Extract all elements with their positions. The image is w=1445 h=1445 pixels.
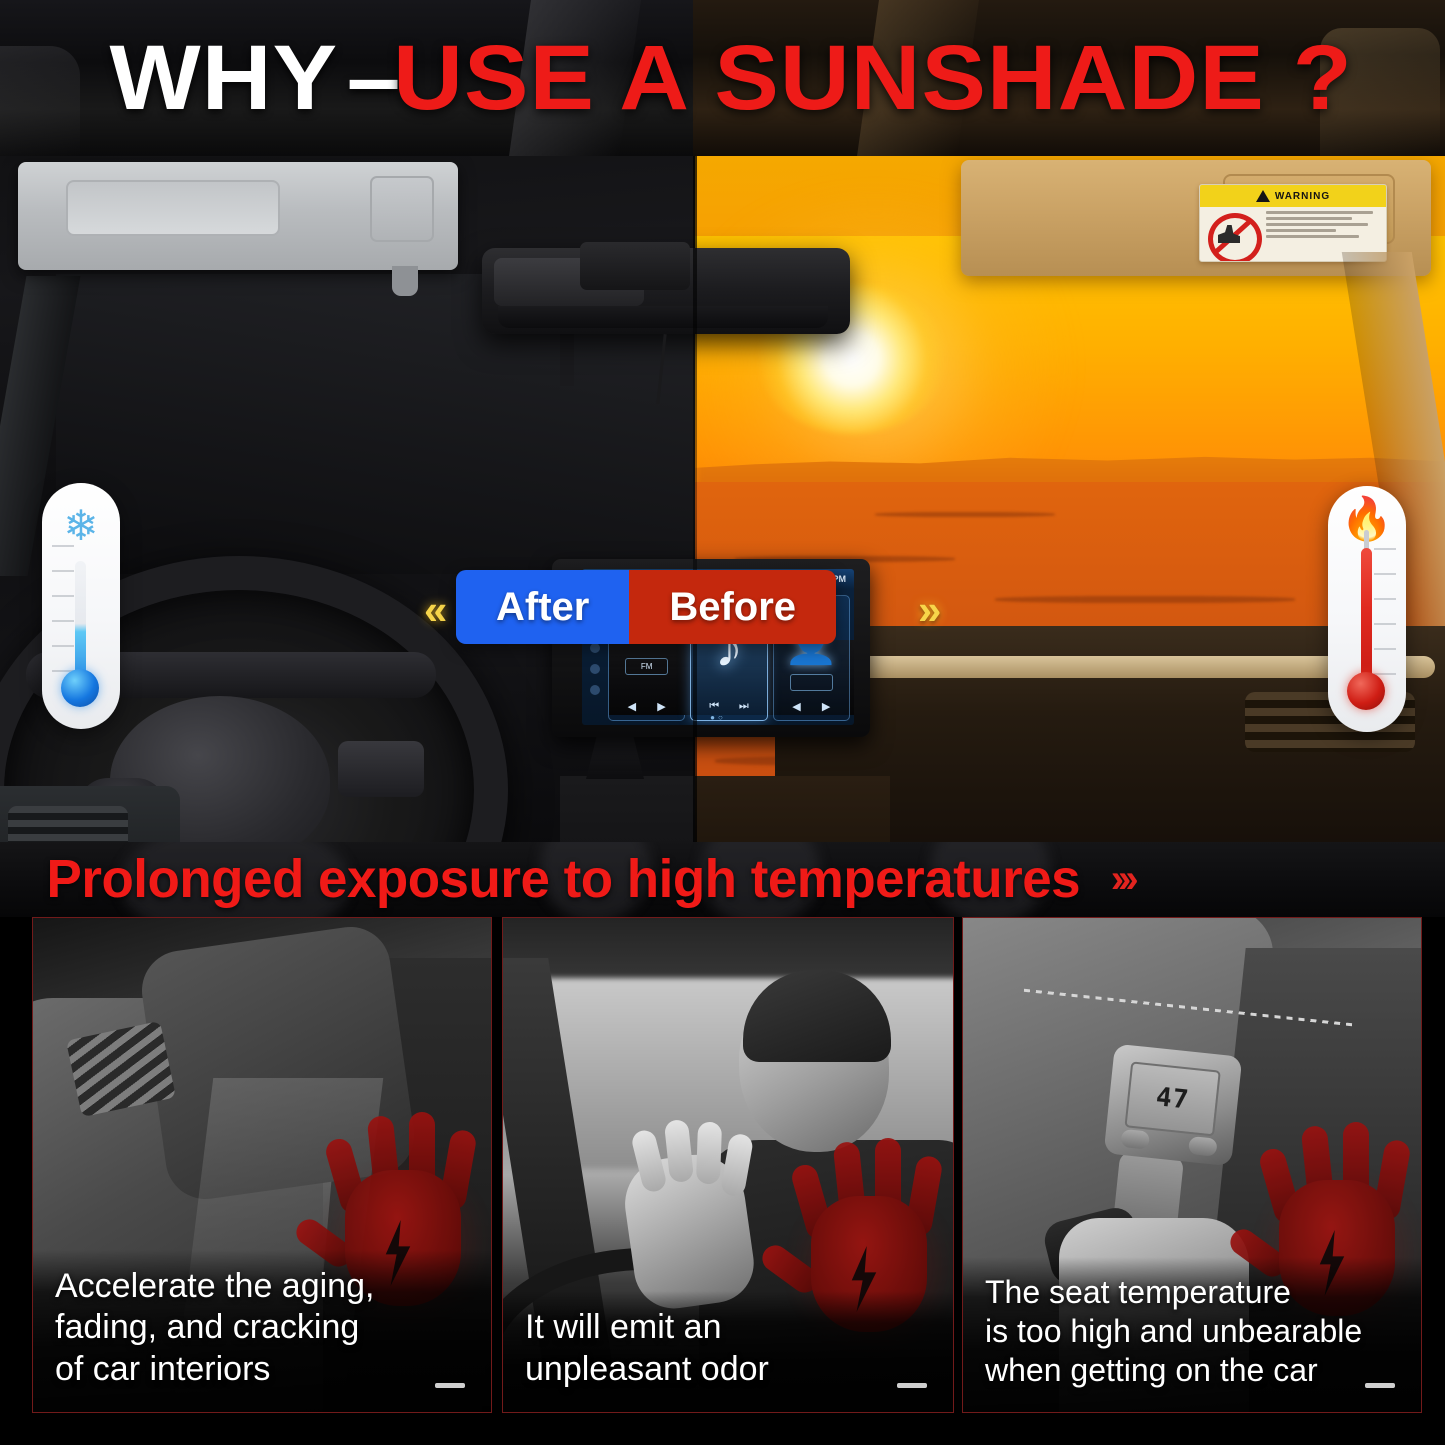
card-caption: It will emit an unpleasant odor (503, 1291, 953, 1412)
chevron-left-icon: « (424, 586, 441, 634)
media-forward-icon[interactable]: ⏭ (739, 700, 749, 713)
air-vent-left (8, 806, 128, 842)
radio-controls: ◀ ▶ (617, 700, 676, 713)
media-rewind-icon[interactable]: ⏮ (709, 700, 719, 713)
badge-before-label: Before (629, 570, 836, 644)
page-title: WHY – USE A SUNSHADE ? (0, 0, 1445, 156)
caption-line-3: when getting on the car (985, 1351, 1399, 1390)
before-after-split-seam (693, 156, 697, 842)
airbag-warning-label: WARNING (1199, 184, 1387, 262)
visor-hook-left (392, 266, 418, 296)
caption-underscore (897, 1383, 927, 1388)
warning-header: WARNING (1200, 185, 1386, 207)
mirror-housing (580, 242, 690, 290)
visor-tab-left (370, 176, 434, 242)
badge-after-label: After (456, 570, 629, 644)
radio-prev-icon[interactable]: ◀ (628, 700, 636, 713)
radio-preset[interactable]: FM (625, 658, 668, 675)
rearview-mirror (482, 248, 850, 334)
caption-line-1: Accelerate the aging, (55, 1266, 469, 1307)
title-word-why: WHY (109, 26, 338, 131)
card-caption: Accelerate the aging, fading, and cracki… (33, 1250, 491, 1412)
card-seat-temperature: 47 The seat temperature (962, 917, 1422, 1413)
visor-mirror-slot (66, 180, 280, 236)
thermometer-cold: ❄ (42, 483, 120, 729)
before-after-badge: After Before (456, 570, 836, 644)
screen-page-dots: ●○ (582, 713, 854, 722)
thermometer-cold-bulb (61, 669, 99, 707)
screen-button-4[interactable] (590, 664, 600, 674)
screen-button-3[interactable] (590, 643, 600, 653)
infographic-root: WHY – USE A SUNSHADE ? (0, 0, 1445, 1445)
chevron-right-icon: » (918, 586, 935, 634)
header-band: WHY – USE A SUNSHADE ? (0, 0, 1445, 156)
caption-line-3: of car interiors (55, 1349, 469, 1390)
card-aging-interiors: Accelerate the aging, fading, and cracki… (32, 917, 492, 1413)
chevron-right-icon-subhead: ››› (1111, 857, 1133, 902)
thermometer-hot-bulb (1347, 672, 1385, 710)
no-child-seat-icon (1200, 207, 1264, 261)
title-word-rest: USE A SUNSHADE ? (394, 26, 1354, 131)
caption-line-2: is too high and unbearable (985, 1312, 1399, 1351)
card-caption: The seat temperature is too high and unb… (963, 1257, 1421, 1412)
thermometer-hot: 🔥 (1328, 486, 1406, 732)
benefit-cards: Accelerate the aging, fading, and cracki… (0, 917, 1445, 1445)
infrared-thermometer: 47 (1104, 1044, 1243, 1167)
phone-controls: ◀ ▶ (782, 700, 841, 713)
phone-contact-bar[interactable] (790, 674, 833, 691)
screen-button-5[interactable] (590, 685, 600, 695)
caption-underscore (1365, 1383, 1395, 1388)
media-controls: ⏮ ⏭ (699, 700, 758, 713)
hero-split-image: WARNING (0, 156, 1445, 842)
warning-triangle-icon (1256, 190, 1270, 202)
card-unpleasant-odor: It will emit an unpleasant odor (502, 917, 954, 1413)
steering-buttons-right (338, 741, 424, 797)
subhead-text: Prolonged exposure to high temperatures (47, 848, 1081, 910)
phone-prev-icon[interactable]: ◀ (792, 700, 800, 713)
caption-line-2: unpleasant odor (525, 1349, 931, 1390)
phone-next-icon[interactable]: ▶ (822, 700, 830, 713)
caption-underscore (435, 1383, 465, 1388)
thermometer-reading: 47 (1154, 1082, 1190, 1115)
caption-line-1: The seat temperature (985, 1273, 1399, 1312)
radio-next-icon[interactable]: ▶ (657, 700, 665, 713)
center-console-right (695, 776, 890, 842)
caption-line-1: It will emit an (525, 1307, 931, 1348)
sun-visor-left (18, 162, 458, 270)
mirror-base (498, 306, 828, 328)
subhead: Prolonged exposure to high temperatures … (36, 846, 1416, 912)
caption-line-2: fading, and cracking (55, 1307, 469, 1348)
thermometer-lcd: 47 (1124, 1061, 1220, 1136)
snowflake-icon: ❄ (50, 505, 112, 547)
warning-title: WARNING (1275, 191, 1330, 202)
